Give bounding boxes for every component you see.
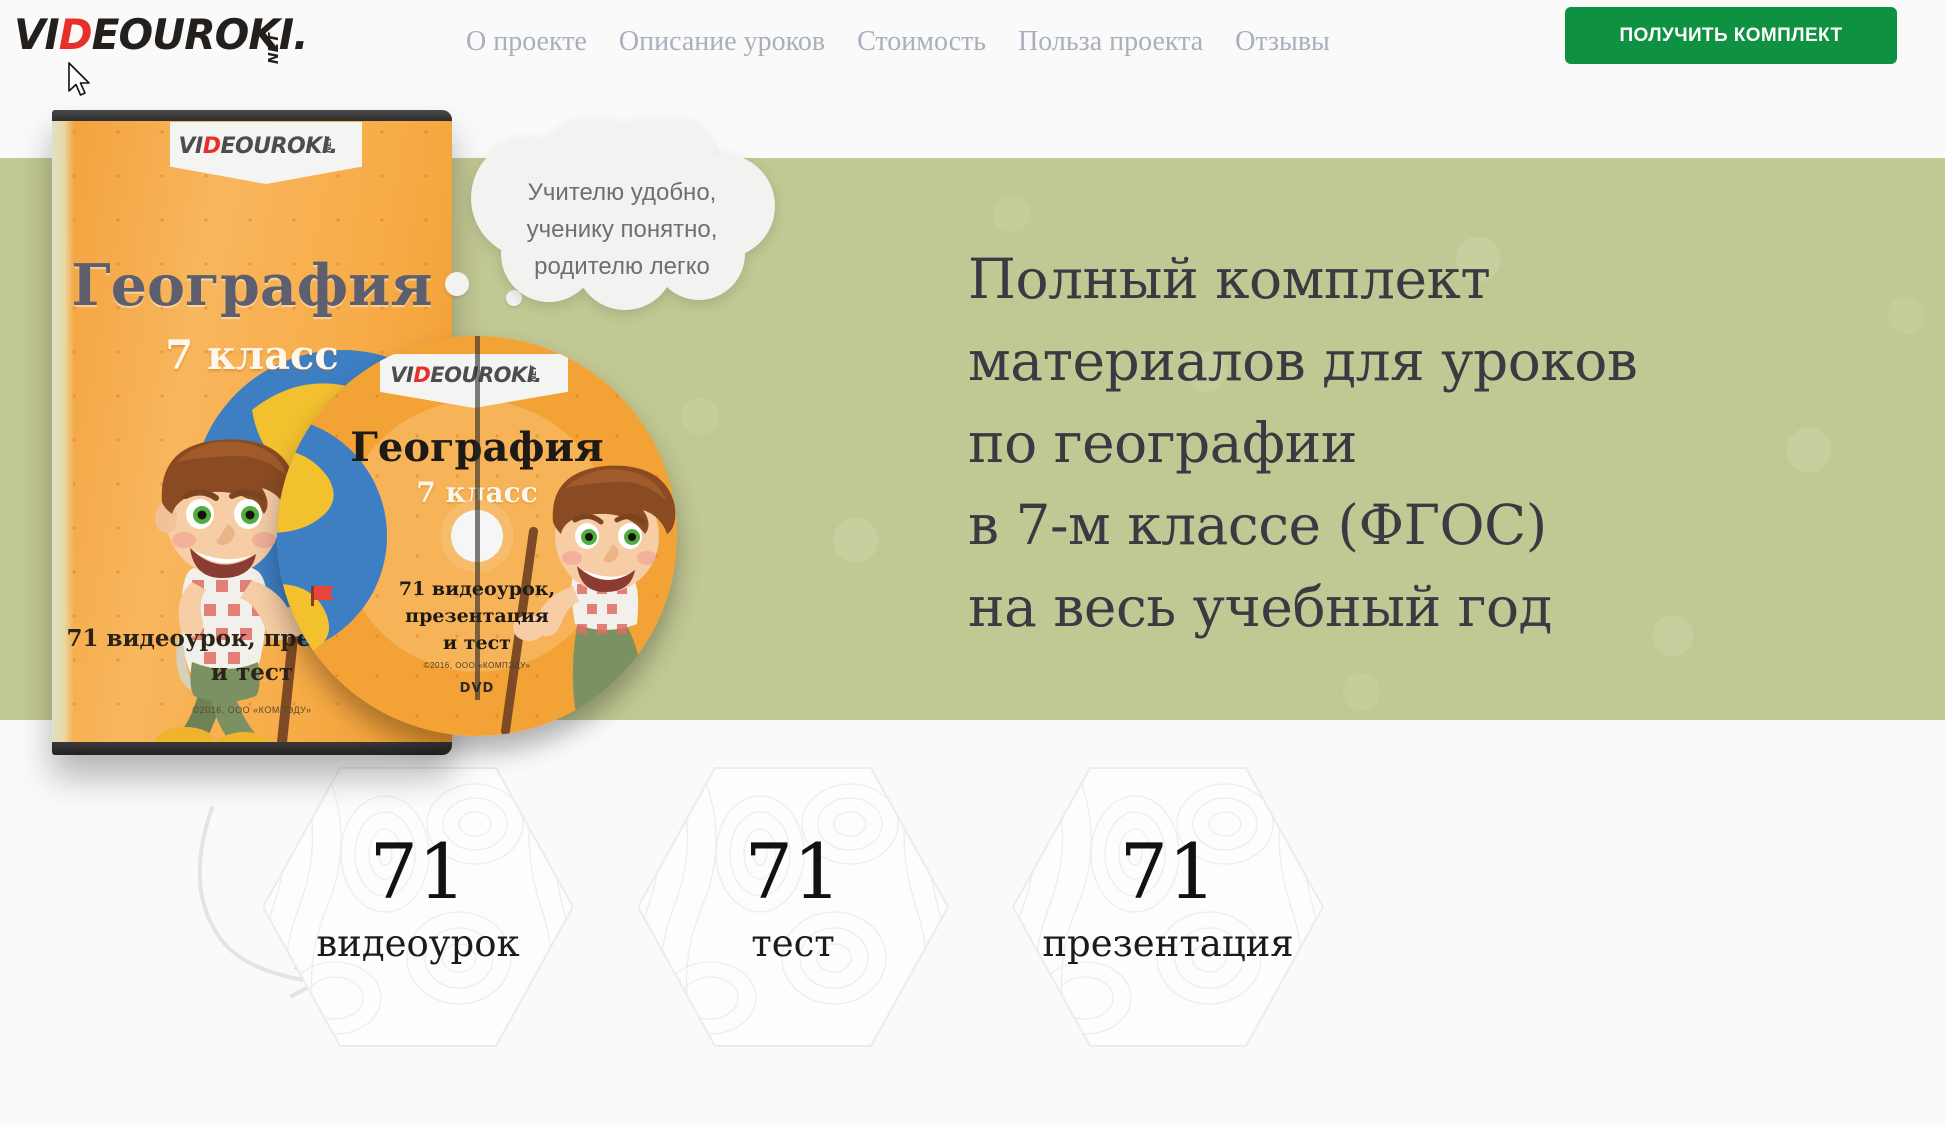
landing-page: VIDEOUROKI.NET О проекте Описание уроков… [0, 0, 1945, 1127]
mouse-cursor [68, 62, 94, 100]
headline-line-2: материалов для уроков [968, 320, 1728, 402]
stats-row: 71 видеоурок 71 тест 71 презентация [0, 762, 1945, 1082]
headline-line-1: Полный комплект [968, 238, 1728, 320]
box-brand-net: NET [324, 137, 333, 153]
stat-number-tests: 71 [638, 834, 948, 910]
disc-brand-part2: EOUROKI. [430, 363, 541, 387]
stat-hex-presentations: 71 презентация [1013, 762, 1323, 1052]
box-brand-red: D [203, 134, 221, 159]
logo-part1: VI [14, 10, 59, 59]
disc-center-hole [441, 500, 513, 572]
headline-line-3: по географии [968, 402, 1728, 484]
nav-item-lessons[interactable]: Описание уроков [603, 18, 841, 66]
headline-line-4: в 7-м классе (ФГОС) [968, 484, 1728, 566]
stat-label-presentations: презентация [1013, 922, 1323, 965]
headline-line-5: на весь учебный год [968, 566, 1728, 648]
speech-line-3: родителю легко [457, 248, 787, 285]
nav-item-about[interactable]: О проекте [450, 18, 603, 66]
nav-item-benefit[interactable]: Польза проекта [1002, 18, 1219, 66]
stat-label-videolessons: видеоурок [263, 922, 573, 965]
stat-number-videolessons: 71 [263, 834, 573, 910]
box-brand-part2: EOUROKI. [221, 134, 338, 159]
disc-brand-red: D [413, 363, 430, 387]
stat-label-tests: тест [638, 922, 948, 965]
hero-headline: Полный комплект материалов для уроков по… [968, 238, 1728, 648]
nav-item-price[interactable]: Стоимость [841, 18, 1002, 66]
box-bottom-edge [52, 742, 452, 755]
stat-hex-videolessons: 71 видеоурок [263, 762, 573, 1052]
disc-brand-part1: VI [390, 363, 413, 387]
stat-number-presentations: 71 [1013, 834, 1323, 910]
speech-line-2: ученику понятно, [457, 211, 787, 248]
box-top-edge [52, 110, 452, 121]
speech-bubble-text: Учителю удобно, ученику понятно, родител… [457, 174, 787, 285]
box-title: География [52, 252, 452, 319]
speech-bubble: Учителю удобно, ученику понятно, родител… [457, 120, 787, 320]
dvd-disc: VIDEOUROKI.NET География 7 класс 71 виде… [277, 336, 677, 736]
box-brand-part1: VI [179, 134, 203, 159]
main-navigation: О проекте Описание уроков Стоимость Поль… [450, 18, 1346, 66]
logo-net-suffix: NET [249, 33, 298, 64]
get-kit-button[interactable]: ПОЛУЧИТЬ КОМПЛЕКТ [1565, 7, 1897, 64]
stat-hex-tests: 71 тест [638, 762, 948, 1052]
nav-item-reviews[interactable]: Отзывы [1219, 18, 1346, 66]
speech-line-1: Учителю удобно, [457, 174, 787, 211]
site-logo[interactable]: VIDEOUROKI.NET [14, 10, 295, 60]
disc-brand-net: NET [529, 366, 538, 382]
site-header: VIDEOUROKI.NET О проекте Описание уроков… [0, 0, 1945, 86]
logo-red-letter: D [59, 10, 92, 59]
